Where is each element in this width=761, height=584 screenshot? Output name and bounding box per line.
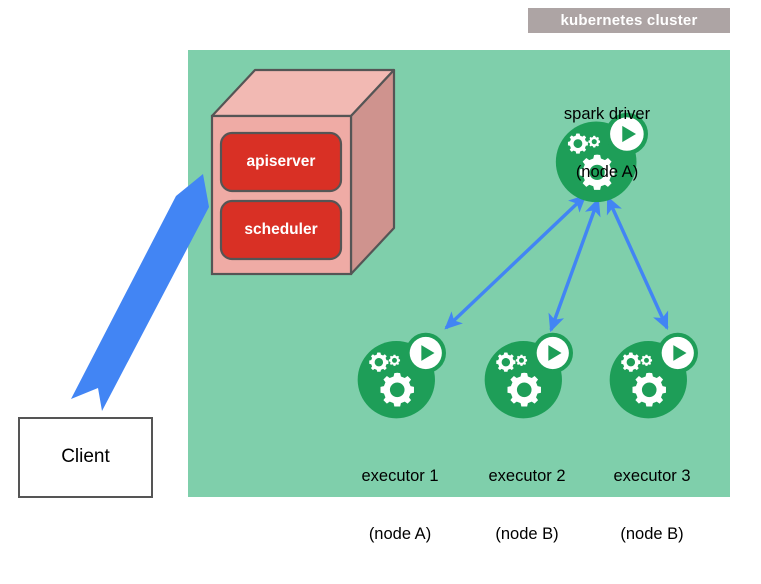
executor-3-label-line2: (node B) xyxy=(582,525,722,544)
scheduler-label: scheduler xyxy=(221,201,341,259)
kubernetes-cluster-badge: kubernetes cluster xyxy=(528,8,730,33)
diagram-canvas: kubernetes cluster apiserver scheduler s… xyxy=(0,0,761,516)
client-box[interactable] xyxy=(19,418,152,497)
executor-2-label-line2: (node B) xyxy=(457,525,597,544)
executor-1-label-line2: (node A) xyxy=(330,525,470,544)
apiserver-label: apiserver xyxy=(221,133,341,191)
